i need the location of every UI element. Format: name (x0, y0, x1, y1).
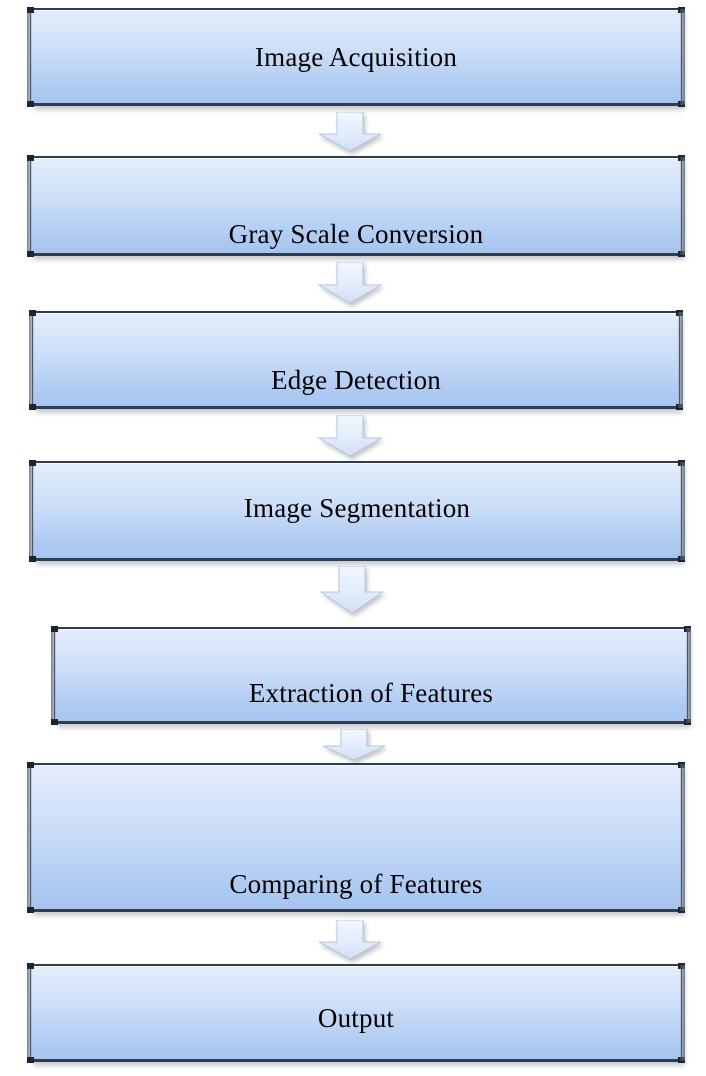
flow-node-output[interactable]: Output (30, 964, 682, 1062)
resize-handle-bottom-right[interactable] (678, 251, 685, 257)
flow-node-label: Edge Detection (33, 366, 679, 394)
resize-handle-bottom-right[interactable] (676, 404, 683, 410)
resize-handle-top-right[interactable] (678, 762, 685, 768)
connector-arrow-down-6 (318, 920, 382, 960)
flow-node-image-segmentation[interactable]: Image Segmentation (32, 461, 682, 561)
connector-arrow-down-2 (318, 262, 382, 304)
resize-handle-bottom-left[interactable] (51, 719, 58, 725)
resize-handle-top-right[interactable] (678, 460, 685, 466)
flow-node-label: Extraction of Features (55, 679, 687, 707)
connector-arrow-down-5 (322, 729, 386, 761)
flow-node-comparing-of-features[interactable]: Comparing of Features (30, 763, 682, 912)
resize-handle-bottom-left[interactable] (29, 404, 36, 410)
flow-node-edge-detection[interactable]: Edge Detection (32, 311, 680, 409)
flow-node-label: Image Segmentation (33, 494, 681, 522)
resize-handle-top-left[interactable] (27, 963, 34, 969)
resize-handle-bottom-left[interactable] (29, 556, 36, 562)
flow-node-extraction-of-features[interactable]: Extraction of Features (54, 627, 688, 724)
resize-handle-top-right[interactable] (684, 626, 691, 632)
resize-handle-bottom-left[interactable] (27, 907, 34, 913)
resize-handle-bottom-right[interactable] (678, 556, 685, 562)
flow-node-gray-scale-conversion[interactable]: Gray Scale Conversion (30, 156, 682, 256)
connector-arrow-down-4 (320, 566, 384, 614)
resize-handle-bottom-right[interactable] (678, 1057, 685, 1063)
resize-handle-top-left[interactable] (51, 626, 58, 632)
resize-handle-top-left[interactable] (27, 155, 34, 161)
resize-handle-bottom-right[interactable] (678, 907, 685, 913)
resize-handle-bottom-right[interactable] (678, 101, 685, 107)
flow-node-image-acquisition[interactable]: Image Acquisition (30, 8, 682, 106)
resize-handle-top-right[interactable] (678, 155, 685, 161)
flow-node-label: Output (31, 1004, 681, 1032)
flow-node-label: Gray Scale Conversion (31, 220, 681, 248)
resize-handle-bottom-left[interactable] (27, 101, 34, 107)
resize-handle-top-left[interactable] (29, 460, 36, 466)
resize-handle-top-left[interactable] (29, 310, 36, 316)
resize-handle-bottom-right[interactable] (684, 719, 691, 725)
resize-handle-top-right[interactable] (676, 310, 683, 316)
resize-handle-top-left[interactable] (27, 762, 34, 768)
connector-arrow-down-1 (318, 112, 382, 152)
resize-handle-bottom-left[interactable] (27, 251, 34, 257)
resize-handle-top-left[interactable] (27, 7, 34, 13)
resize-handle-top-right[interactable] (678, 963, 685, 969)
flow-node-label: Image Acquisition (31, 43, 681, 71)
resize-handle-bottom-left[interactable] (27, 1057, 34, 1063)
resize-handle-top-right[interactable] (678, 7, 685, 13)
connector-arrow-down-3 (318, 415, 382, 457)
flowchart-canvas: Image Acquisition Gray Scale Conversion (0, 0, 706, 1076)
flow-node-label: Comparing of Features (31, 870, 681, 898)
